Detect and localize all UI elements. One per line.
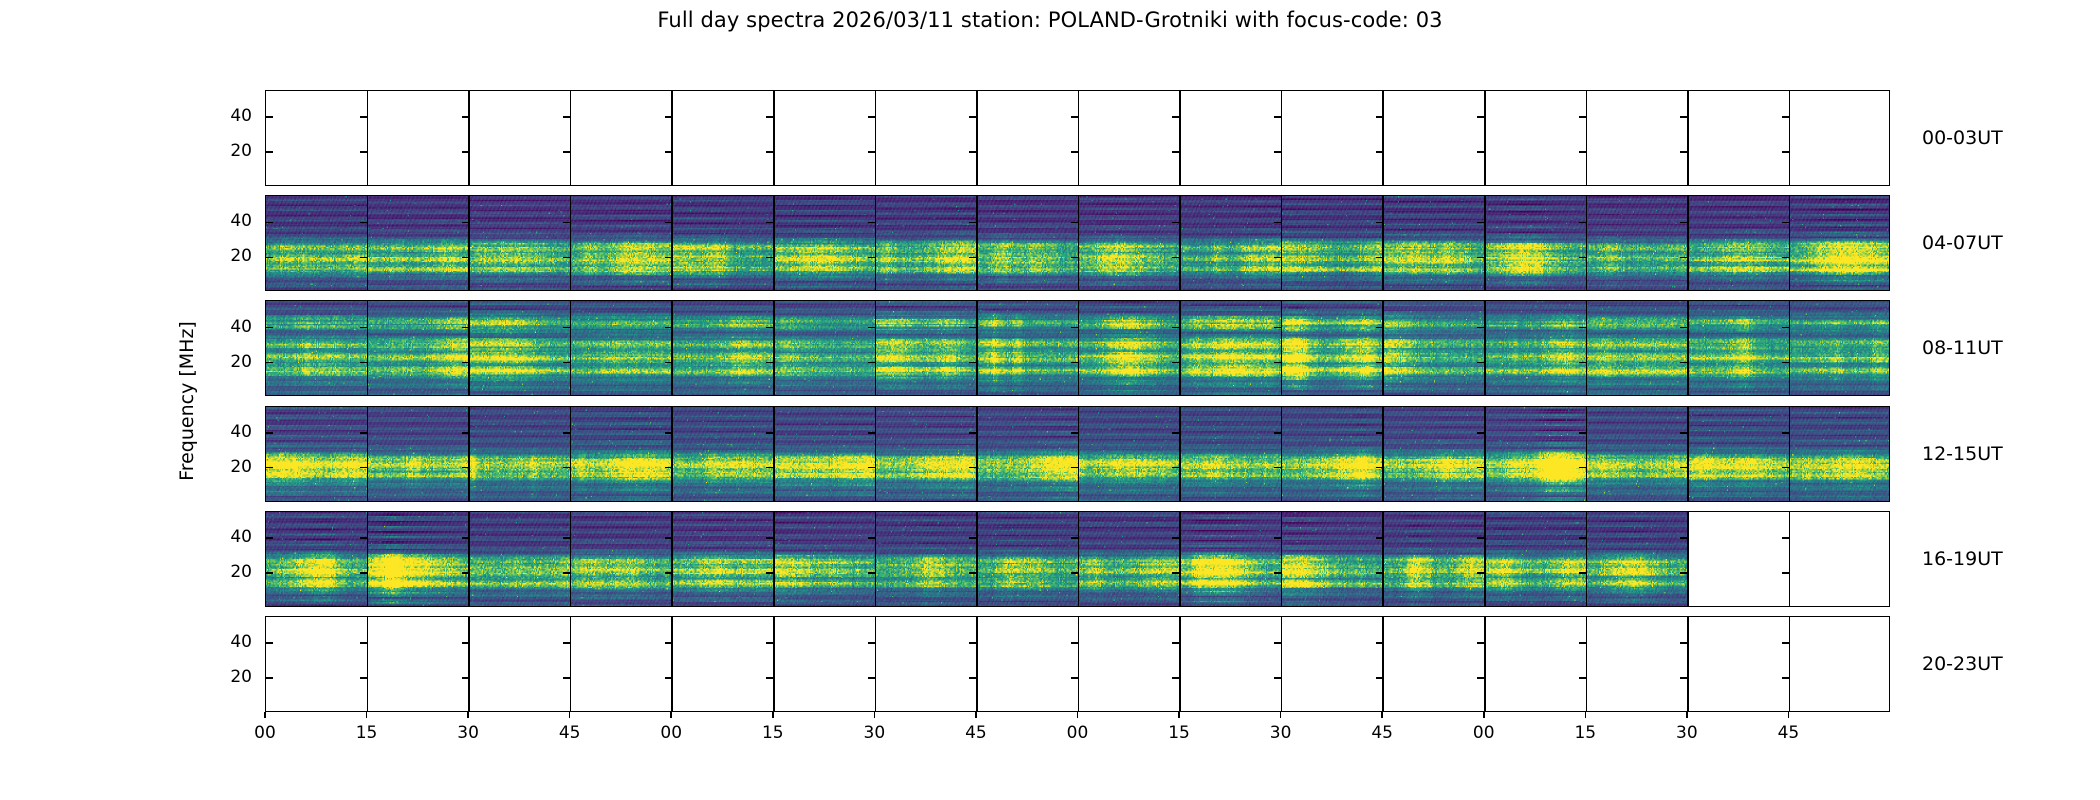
y-tick-mark [969,537,976,539]
panel-separator [773,91,775,185]
y-tick-mark [1477,677,1484,679]
spectra-panel [672,407,774,501]
spectra-row-04-07ut [265,195,1890,291]
y-tick-mark [1782,432,1789,434]
spectra-panel [1485,617,1587,711]
y-tick-mark [563,677,570,679]
y-tick-mark [1376,572,1383,574]
spectra-panel [977,617,1079,711]
spectra-panel [571,91,673,185]
spectrogram-image [469,512,571,606]
y-tick-mark [1680,537,1687,539]
y-tick-mark [360,362,367,364]
x-tick-label: 45 [1371,723,1393,743]
spectra-panel [1688,617,1790,711]
y-tick-mark [1274,257,1281,259]
panel-separator [1687,301,1689,395]
y-tick-mark [1680,642,1687,644]
spectra-panel [672,617,774,711]
y-tick-label: 20 [210,562,252,582]
panel-separator [1179,512,1181,606]
spectrogram-image [875,407,977,501]
y-tick-mark [1477,537,1484,539]
panel-separator [570,196,572,290]
spectra-panel [1180,617,1282,711]
spectrogram-image [672,196,774,290]
panel-separator [1586,617,1588,711]
panel-separator [367,91,369,185]
spectra-panel [1688,196,1790,290]
spectra-panel [266,301,368,395]
spectra-panel [1079,91,1181,185]
spectrogram-image [774,196,876,290]
panel-separator [773,407,775,501]
panel-separator [671,407,673,501]
x-tick-mark [264,712,266,718]
spectra-row-12-15ut [265,406,1890,502]
y-tick-mark [868,537,875,539]
spectrogram-image [1688,196,1790,290]
y-tick-mark [766,327,773,329]
x-tick-mark [1280,712,1282,718]
row-label-00-03ut: 00-03UT [1922,127,2003,149]
spectrogram-image [368,196,470,290]
y-tick-mark [665,572,672,574]
panel-separator [1281,301,1283,395]
y-tick-mark [969,642,976,644]
panel-separator [1586,196,1588,290]
spectra-panel [266,617,368,711]
panel-separator [671,91,673,185]
y-tick-mark [1680,116,1687,118]
spectra-panel [368,512,470,606]
spectrogram-image [1383,196,1485,290]
y-tick-mark [665,467,672,469]
panel-separator [468,301,470,395]
spectra-panel [368,196,470,290]
x-tick-mark [467,712,469,718]
y-tick-mark [266,327,273,329]
y-tick-mark [1579,327,1586,329]
y-tick-mark [266,537,273,539]
y-tick-mark [766,362,773,364]
y-tick-mark [266,362,273,364]
y-tick-mark [969,432,976,434]
y-tick-mark [969,677,976,679]
panel-separator [976,301,978,395]
x-tick-label: 00 [660,723,682,743]
y-tick-mark [766,257,773,259]
y-tick-mark [1172,116,1179,118]
y-tick-mark [266,677,273,679]
spectra-panel [1282,301,1384,395]
y-tick-mark [1782,116,1789,118]
panel-separator [570,512,572,606]
y-tick-label: 20 [210,141,252,161]
spectra-panel [1688,301,1790,395]
y-tick-label: 20 [210,457,252,477]
x-tick-label: 45 [965,723,987,743]
spectra-panel [1180,301,1282,395]
y-tick-label: 40 [210,632,252,652]
x-tick-mark [772,712,774,718]
y-tick-mark [1376,257,1383,259]
spectra-panel [1789,196,1890,290]
y-tick-mark [563,327,570,329]
panel-separator [1484,91,1486,185]
y-tick-mark [1172,677,1179,679]
spectrogram-image [1586,196,1688,290]
spectrogram-image [1079,407,1181,501]
spectra-panel [1586,407,1688,501]
y-tick-mark [266,572,273,574]
spectrogram-image [875,301,977,395]
y-tick-mark [462,642,469,644]
spectrogram-image [977,512,1079,606]
y-tick-mark [1680,467,1687,469]
panel-separator [875,407,877,501]
y-tick-mark [1579,257,1586,259]
x-tick-label: 15 [762,723,784,743]
y-tick-mark [360,257,367,259]
panel-separator [1382,196,1384,290]
x-tick-label: 30 [457,723,479,743]
y-tick-mark [462,537,469,539]
x-tick-label: 15 [1168,723,1190,743]
spectrogram-image [1383,407,1485,501]
spectrogram-image [774,301,876,395]
y-tick-mark [1376,467,1383,469]
row-label-20-23ut: 20-23UT [1922,653,2003,675]
y-tick-mark [665,116,672,118]
y-tick-mark [360,677,367,679]
y-tick-mark [1579,677,1586,679]
y-tick-mark [1376,677,1383,679]
panel-separator [367,617,369,711]
spectrogram-image [571,512,673,606]
y-tick-mark [969,467,976,469]
y-tick-mark [868,257,875,259]
spectra-panel [1789,301,1890,395]
spectrogram-image [774,407,876,501]
y-tick-mark [1782,642,1789,644]
y-tick-mark [1172,467,1179,469]
panel-separator [367,196,369,290]
y-tick-mark [266,116,273,118]
y-tick-mark [766,222,773,224]
x-tick-label: 45 [1778,723,1800,743]
panel-separator [671,617,673,711]
y-tick-mark [360,572,367,574]
panel-separator [1687,196,1689,290]
y-tick-mark [1172,222,1179,224]
y-tick-mark [868,467,875,469]
spectra-panel [977,407,1079,501]
spectra-panel [1383,196,1485,290]
x-tick-mark [1585,712,1587,718]
spectra-panel [774,512,876,606]
y-tick-mark [360,327,367,329]
y-tick-mark [1274,537,1281,539]
spectra-panel [1688,512,1790,606]
y-tick-mark [868,572,875,574]
spectra-panel [875,512,977,606]
y-tick-mark [868,362,875,364]
spectrogram-image [368,512,470,606]
panel-separator [773,301,775,395]
spectra-panel [1789,512,1890,606]
spectra-panel [1079,301,1181,395]
row-label-16-19ut: 16-19UT [1922,548,2003,570]
y-tick-mark [1071,151,1078,153]
y-tick-mark [266,642,273,644]
y-tick-mark [462,327,469,329]
y-tick-mark [462,151,469,153]
panel-separator [1179,91,1181,185]
spectra-panel [1079,617,1181,711]
y-tick-mark [1477,642,1484,644]
spectrogram-image [1586,407,1688,501]
spectrogram-image [977,301,1079,395]
panel-separator [875,301,877,395]
spectra-figure: Full day spectra 2026/03/11 station: POL… [0,0,2100,800]
panel-separator [570,301,572,395]
panel-separator [875,512,877,606]
spectrogram-image [1079,196,1181,290]
y-tick-mark [1071,677,1078,679]
spectra-panel [266,196,368,290]
y-tick-mark [563,151,570,153]
spectra-panel [977,512,1079,606]
y-tick-mark [1071,257,1078,259]
y-tick-mark [1274,677,1281,679]
y-tick-mark [1071,116,1078,118]
y-tick-mark [665,257,672,259]
panel-separator [1789,617,1791,711]
y-tick-mark [1376,362,1383,364]
spectra-row-00-03ut [265,90,1890,186]
spectra-panel [1586,617,1688,711]
spectra-panel [1688,91,1790,185]
panel-separator [1382,512,1384,606]
y-tick-label: 40 [210,106,252,126]
spectra-panel [672,91,774,185]
spectra-panel [368,91,470,185]
y-tick-mark [1477,572,1484,574]
y-tick-mark [1579,642,1586,644]
spectrogram-image [1282,196,1384,290]
panel-separator [1078,301,1080,395]
spectra-panel [1282,512,1384,606]
spectra-panel [1789,617,1890,711]
spectra-panel [1688,407,1790,501]
y-tick-mark [462,572,469,574]
panel-separator [1281,617,1283,711]
spectra-panel [672,196,774,290]
panel-separator [1078,512,1080,606]
spectra-panel [368,617,470,711]
spectra-panel [571,407,673,501]
panel-separator [1281,512,1283,606]
y-tick-mark [1477,362,1484,364]
panel-separator [1078,407,1080,501]
panel-separator [367,407,369,501]
y-tick-mark [360,537,367,539]
y-tick-mark [1274,467,1281,469]
spectra-panel [571,617,673,711]
spectrogram-image [266,196,368,290]
spectra-panel [266,407,368,501]
spectrogram-image [1485,196,1587,290]
x-tick-label: 15 [1574,723,1596,743]
spectra-panel [1586,512,1688,606]
spectra-panel [1383,617,1485,711]
y-tick-mark [665,537,672,539]
panel-separator [1078,617,1080,711]
spectra-panel [1079,512,1181,606]
spectrogram-image [571,196,673,290]
spectrogram-image [469,196,571,290]
x-tick-label: 30 [864,723,886,743]
spectrogram-image [571,407,673,501]
spectrogram-image [672,301,774,395]
y-tick-mark [1579,432,1586,434]
panel-separator [1179,301,1181,395]
y-tick-mark [969,257,976,259]
spectrogram-image [266,512,368,606]
spectra-panel [875,91,977,185]
y-tick-label: 40 [210,527,252,547]
spectra-panel [1282,617,1384,711]
y-tick-mark [360,222,367,224]
panel-separator [570,617,572,711]
y-tick-mark [1782,537,1789,539]
row-label-08-11ut: 08-11UT [1922,337,2003,359]
spectra-panel [875,301,977,395]
y-tick-mark [1477,467,1484,469]
spectra-panel [1485,301,1587,395]
x-tick-mark [1483,712,1485,718]
spectra-panel [1789,91,1890,185]
panel-separator [1789,196,1791,290]
spectrogram-image [1282,407,1384,501]
spectrogram-image [1485,301,1587,395]
y-tick-mark [969,362,976,364]
spectra-panel [1079,196,1181,290]
panel-separator [875,617,877,711]
y-tick-mark [360,116,367,118]
y-axis-label: Frequency [MHz] [176,321,198,481]
y-tick-mark [1376,537,1383,539]
panel-separator [1789,91,1791,185]
spectrogram-image [1383,512,1485,606]
y-tick-mark [868,677,875,679]
panel-separator [1281,91,1283,185]
spectra-row-08-11ut [265,300,1890,396]
y-tick-mark [1376,116,1383,118]
panel-separator [570,91,572,185]
y-tick-mark [1477,222,1484,224]
y-tick-mark [563,467,570,469]
y-tick-mark [563,257,570,259]
panel-separator [1789,301,1791,395]
y-tick-mark [1376,327,1383,329]
y-tick-mark [563,572,570,574]
y-tick-mark [266,257,273,259]
spectra-panel [1485,512,1587,606]
spectra-panel [1485,196,1587,290]
x-tick-mark [366,712,368,718]
spectrogram-image [1079,512,1181,606]
y-tick-mark [360,642,367,644]
panel-separator [1789,512,1791,606]
x-tick-label: 00 [1473,723,1495,743]
spectra-panel [368,407,470,501]
y-tick-mark [462,677,469,679]
y-tick-mark [1477,432,1484,434]
spectrogram-image [1789,301,1890,395]
spectra-panel [875,196,977,290]
y-tick-mark [360,151,367,153]
y-tick-mark [1274,116,1281,118]
spectrogram-image [1688,407,1790,501]
spectra-panel [1789,407,1890,501]
panel-separator [367,512,369,606]
spectrogram-image [672,407,774,501]
y-tick-mark [1071,572,1078,574]
spectra-panel [469,301,571,395]
y-tick-mark [665,222,672,224]
y-tick-mark [1274,327,1281,329]
x-tick-mark [1788,712,1790,718]
y-tick-mark [969,116,976,118]
y-tick-mark [1071,537,1078,539]
y-tick-mark [665,362,672,364]
y-tick-mark [868,222,875,224]
y-tick-mark [1376,151,1383,153]
x-tick-label: 30 [1676,723,1698,743]
y-tick-mark [868,116,875,118]
spectrogram-image [1485,512,1587,606]
spectra-panel [672,512,774,606]
y-tick-mark [563,642,570,644]
panel-separator [976,91,978,185]
y-tick-mark [563,537,570,539]
panel-separator [1078,91,1080,185]
y-tick-mark [1579,537,1586,539]
panel-separator [468,617,470,711]
panel-separator [1484,301,1486,395]
y-tick-mark [1680,327,1687,329]
spectrogram-image [1079,301,1181,395]
spectra-panel [1180,196,1282,290]
y-tick-mark [1782,257,1789,259]
panel-separator [1789,407,1791,501]
y-tick-mark [360,432,367,434]
panel-separator [1382,91,1384,185]
y-tick-mark [462,257,469,259]
panel-separator [773,512,775,606]
spectrogram-image [469,301,571,395]
spectra-panel [875,407,977,501]
spectra-panel [368,301,470,395]
spectra-panel [1079,407,1181,501]
y-tick-mark [1579,467,1586,469]
spectra-panel [266,512,368,606]
panel-separator [671,512,673,606]
y-tick-mark [1579,151,1586,153]
spectra-panel [469,196,571,290]
